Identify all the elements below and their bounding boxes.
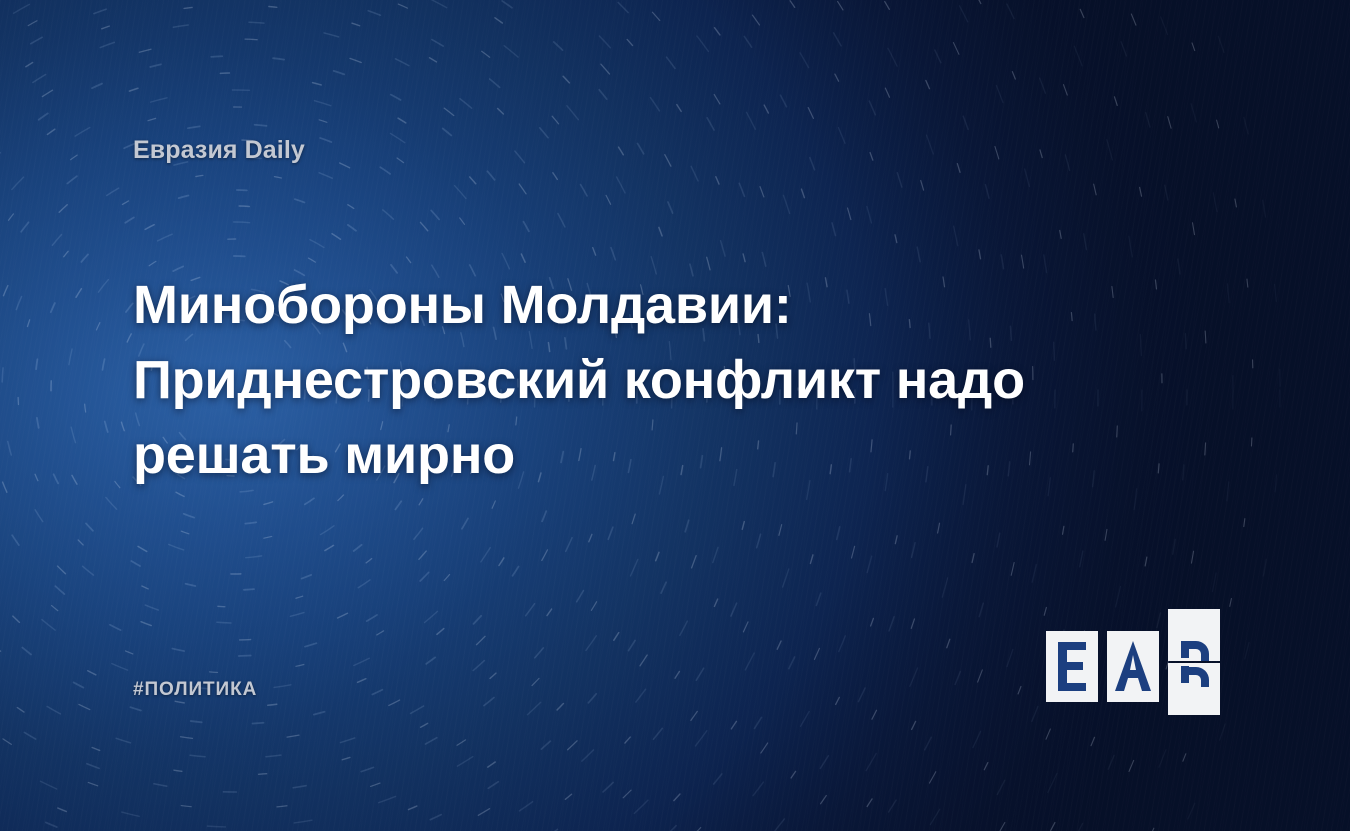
- logo-tile-d-bottom: [1168, 663, 1220, 715]
- logo-tile-e: [1046, 631, 1098, 702]
- article-social-card: Евразия Daily Минобороны Молдавии: Придн…: [0, 0, 1350, 831]
- page-title: Минобороны Молдавии: Приднестровский кон…: [133, 268, 1113, 493]
- logo-tile-a: [1107, 631, 1159, 702]
- eadaily-logo: [1046, 631, 1220, 702]
- category-tag: #ПОЛИТИКА: [133, 679, 257, 701]
- logo-tile-d-top: [1168, 609, 1220, 661]
- brand-name: Евразия Daily: [133, 136, 305, 165]
- card-content: Евразия Daily Минобороны Молдавии: Придн…: [0, 0, 1350, 831]
